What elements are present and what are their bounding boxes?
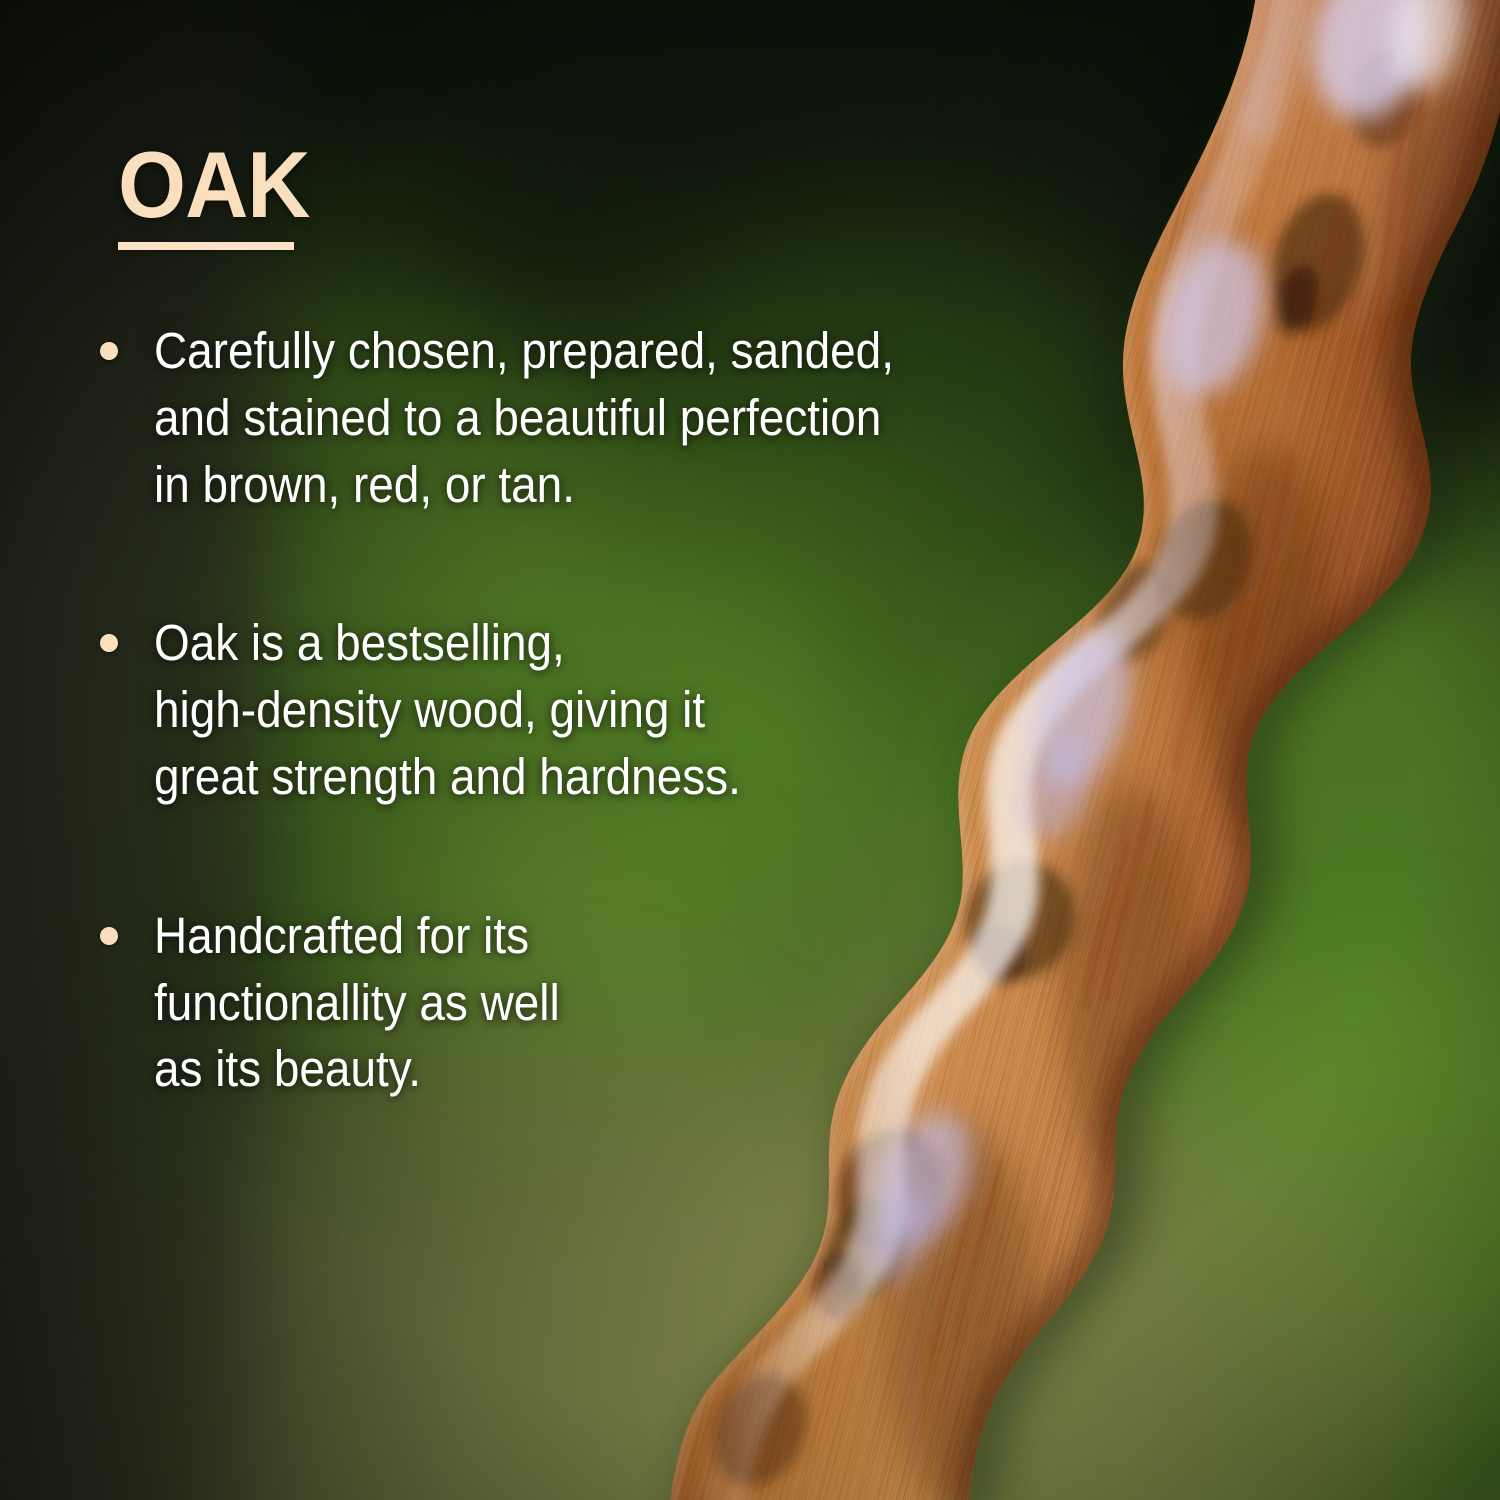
- bullet-dot-icon: [100, 634, 118, 652]
- heading-block: OAK: [118, 142, 324, 250]
- list-item: Carefully chosen, prepared, sanded, and …: [100, 318, 1050, 518]
- text-content-panel: OAK Carefully chosen, prepared, sanded, …: [0, 0, 1060, 1500]
- title-underline: [118, 242, 294, 250]
- bullet-text: Oak is a bestselling, high-density wood,…: [154, 610, 741, 810]
- bullet-dot-icon: [100, 342, 118, 360]
- list-item: Oak is a bestselling, high-density wood,…: [100, 610, 1050, 810]
- bullet-dot-icon: [100, 927, 118, 945]
- list-item: Handcrafted for its functionallity as we…: [100, 903, 1050, 1103]
- feature-bullet-list: Carefully chosen, prepared, sanded, and …: [100, 318, 1050, 1103]
- bullet-text: Handcrafted for its functionallity as we…: [154, 903, 560, 1103]
- infographic-canvas: OAK Carefully chosen, prepared, sanded, …: [0, 0, 1500, 1500]
- page-title: OAK: [118, 142, 309, 228]
- bullet-text: Carefully chosen, prepared, sanded, and …: [154, 318, 894, 518]
